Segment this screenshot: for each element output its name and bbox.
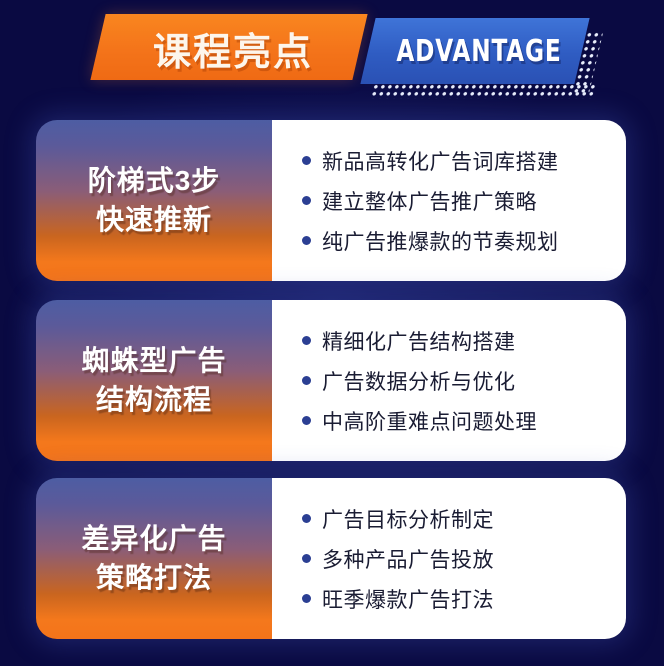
header-dot-pattern-bottom [370,84,597,99]
card-1-bullet-panel: 新品高转化广告词库搭建 建立整体广告推广策略 纯广告推爆款的节奏规划 [272,120,626,281]
list-item: 精细化广告结构搭建 [302,326,626,356]
list-item: 旺季爆款广告打法 [302,584,626,614]
bullet-text: 广告目标分析制定 [322,504,494,534]
card-1-title-line2: 快速推新 [96,201,212,240]
bullet-text: 多种产品广告投放 [322,544,494,574]
bullet-text: 旺季爆款广告打法 [322,584,494,614]
header-banner: 课程亮点 ADVANTAGE [0,14,664,88]
card-2-bullet-panel: 精细化广告结构搭建 广告数据分析与优化 中高阶重难点问题处理 [272,300,626,461]
highlight-card-1: 阶梯式3步 快速推新 新品高转化广告词库搭建 建立整体广告推广策略 纯广告推爆款… [36,120,626,281]
bullet-text: 广告数据分析与优化 [322,366,516,396]
card-2-title-line2: 结构流程 [96,381,212,420]
list-item: 广告目标分析制定 [302,504,626,534]
bullet-dot-icon [302,416,311,425]
bullet-dot-icon [302,196,311,205]
bullet-text: 建立整体广告推广策略 [322,186,537,216]
bullet-dot-icon [302,514,311,523]
bullet-dot-icon [302,554,311,563]
list-item: 新品高转化广告词库搭建 [302,146,626,176]
list-item: 广告数据分析与优化 [302,366,626,396]
list-item: 中高阶重难点问题处理 [302,406,626,436]
bullet-text: 新品高转化广告词库搭建 [322,146,559,176]
bullet-dot-icon [302,336,311,345]
highlight-card-3: 差异化广告 策略打法 广告目标分析制定 多种产品广告投放 旺季爆款广告打法 [36,478,626,639]
list-item: 多种产品广告投放 [302,544,626,574]
card-1-title-panel: 阶梯式3步 快速推新 [36,120,272,281]
card-3-title-line2: 策略打法 [96,559,212,598]
bullet-dot-icon [302,236,311,245]
bullet-dot-icon [302,594,311,603]
bullet-text: 精细化广告结构搭建 [322,326,516,356]
card-3-title-line1: 差异化广告 [81,520,226,559]
header-title-cn: 课程亮点 [108,16,358,80]
bullet-dot-icon [302,376,311,385]
list-item: 建立整体广告推广策略 [302,186,626,216]
card-3-bullet-panel: 广告目标分析制定 多种产品广告投放 旺季爆款广告打法 [272,478,626,639]
card-2-title-panel: 蜘蛛型广告 结构流程 [36,300,272,461]
bullet-text: 中高阶重难点问题处理 [322,406,537,436]
list-item: 纯广告推爆款的节奏规划 [302,226,626,256]
header-title-en: ADVANTAGE [387,20,571,82]
card-3-title-panel: 差异化广告 策略打法 [36,478,272,639]
bullet-text: 纯广告推爆款的节奏规划 [322,226,559,256]
bullet-dot-icon [302,156,311,165]
highlight-card-2: 蜘蛛型广告 结构流程 精细化广告结构搭建 广告数据分析与优化 中高阶重难点问题处… [36,300,626,461]
card-2-title-line1: 蜘蛛型广告 [81,342,226,381]
card-1-title-line1: 阶梯式3步 [88,162,221,201]
